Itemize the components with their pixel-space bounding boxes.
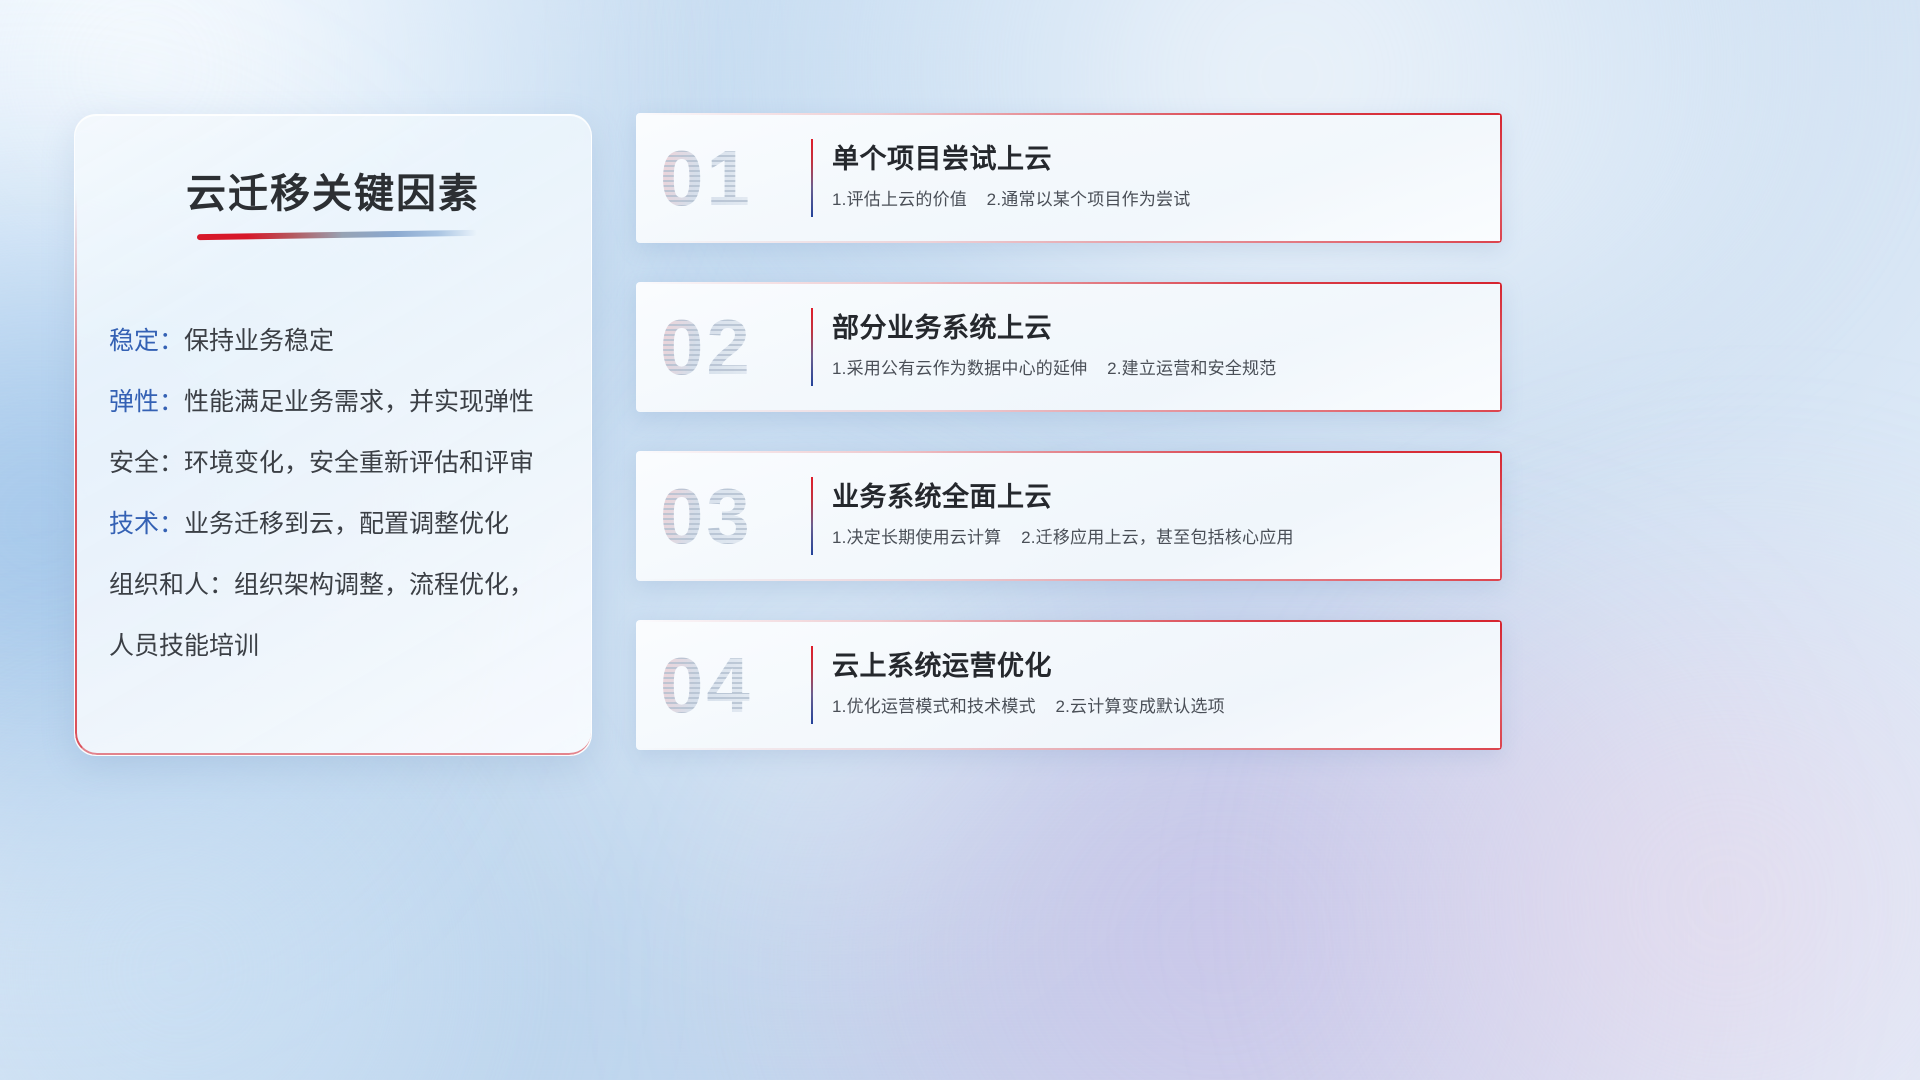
key-factors-list: 稳定：保持业务稳定 弹性：性能满足业务需求，并实现弹性 安全：环境变化，安全重新… xyxy=(109,311,565,677)
list-item-text: 人员技能培训 xyxy=(109,632,259,660)
list-item-key: 技术： xyxy=(109,510,184,538)
title-underline-gradient xyxy=(197,230,477,240)
card-right-accent-line xyxy=(1500,620,1502,750)
card-step-number: 03 xyxy=(660,477,753,555)
card-top-accent-line xyxy=(636,451,1502,453)
card-text-block: 云上系统运营优化 1.优化运营模式和技术模式 2.云计算变成默认选项 xyxy=(832,648,1476,719)
card-text-block: 单个项目尝试上云 1.评估上云的价值 2.通常以某个项目作为尝试 xyxy=(832,141,1476,212)
card-top-accent-line xyxy=(636,620,1502,622)
list-item-continuation: 人员技能培训 xyxy=(109,616,565,677)
list-item-text: 保持业务稳定 xyxy=(184,327,334,355)
card-title: 云上系统运营优化 xyxy=(832,648,1476,684)
stage-card-02[interactable]: 02 部分业务系统上云 1.采用公有云作为数据中心的延伸 2.建立运营和安全规范 xyxy=(636,282,1502,412)
stage-card-04[interactable]: 04 云上系统运营优化 1.优化运营模式和技术模式 2.云计算变成默认选项 xyxy=(636,620,1502,750)
list-item: 技术：业务迁移到云，配置调整优化 xyxy=(109,494,565,555)
list-item-key: 安全： xyxy=(109,449,184,477)
card-step-number: 04 xyxy=(660,646,753,724)
card-subtitle: 1.采用公有云作为数据中心的延伸 2.建立运营和安全规范 xyxy=(832,357,1476,381)
card-divider-bar xyxy=(811,139,813,217)
list-item-key: 稳定： xyxy=(109,327,184,355)
stage-cards-list: 01 单个项目尝试上云 1.评估上云的价值 2.通常以某个项目作为尝试 02 部… xyxy=(636,113,1502,789)
card-right-accent-line xyxy=(1500,113,1502,243)
card-right-accent-line xyxy=(1500,451,1502,581)
list-item: 安全：环境变化，安全重新评估和评审 xyxy=(109,433,565,494)
list-item: 组织和人：组织架构调整，流程优化， xyxy=(109,555,565,616)
card-title: 业务系统全面上云 xyxy=(832,479,1476,515)
stage-card-03[interactable]: 03 业务系统全面上云 1.决定长期使用云计算 2.迁移应用上云，甚至包括核心应… xyxy=(636,451,1502,581)
page-title: 云迁移关键因素 xyxy=(75,161,591,219)
card-divider-bar xyxy=(811,646,813,724)
card-divider-bar xyxy=(811,308,813,386)
card-subtitle: 1.评估上云的价值 2.通常以某个项目作为尝试 xyxy=(832,188,1476,212)
card-subtitle: 1.决定长期使用云计算 2.迁移应用上云，甚至包括核心应用 xyxy=(832,526,1476,550)
list-item-text: 组织架构调整，流程优化， xyxy=(234,571,534,599)
card-title: 部分业务系统上云 xyxy=(832,310,1476,346)
stage-card-01[interactable]: 01 单个项目尝试上云 1.评估上云的价值 2.通常以某个项目作为尝试 xyxy=(636,113,1502,243)
card-bottom-accent-line xyxy=(636,579,1502,581)
card-right-accent-line xyxy=(1500,282,1502,412)
card-top-accent-line xyxy=(636,113,1502,115)
list-item-key: 弹性： xyxy=(109,388,184,416)
card-title: 单个项目尝试上云 xyxy=(832,141,1476,177)
card-divider-bar xyxy=(811,477,813,555)
list-item-text: 环境变化，安全重新评估和评审 xyxy=(184,449,534,477)
list-item: 弹性：性能满足业务需求，并实现弹性 xyxy=(109,372,565,433)
list-item-text: 业务迁移到云，配置调整优化 xyxy=(184,510,509,538)
card-text-block: 部分业务系统上云 1.采用公有云作为数据中心的延伸 2.建立运营和安全规范 xyxy=(832,310,1476,381)
card-bottom-accent-line xyxy=(636,410,1502,412)
key-factors-panel: 云迁移关键因素 稳定：保持业务稳定 弹性：性能满足业务需求，并实现弹性 安全：环… xyxy=(74,114,592,756)
list-item: 稳定：保持业务稳定 xyxy=(109,311,565,372)
list-item-text: 性能满足业务需求，并实现弹性 xyxy=(184,388,534,416)
card-subtitle: 1.优化运营模式和技术模式 2.云计算变成默认选项 xyxy=(832,695,1476,719)
card-step-number: 01 xyxy=(660,139,753,217)
card-text-block: 业务系统全面上云 1.决定长期使用云计算 2.迁移应用上云，甚至包括核心应用 xyxy=(832,479,1476,550)
card-bottom-accent-line xyxy=(636,241,1502,243)
card-bottom-accent-line xyxy=(636,748,1502,750)
card-step-number: 02 xyxy=(660,308,753,386)
slide-stage: 云迁移关键因素 稳定：保持业务稳定 弹性：性能满足业务需求，并实现弹性 安全：环… xyxy=(0,0,1920,1080)
card-top-accent-line xyxy=(636,282,1502,284)
list-item-key: 组织和人： xyxy=(109,571,234,599)
